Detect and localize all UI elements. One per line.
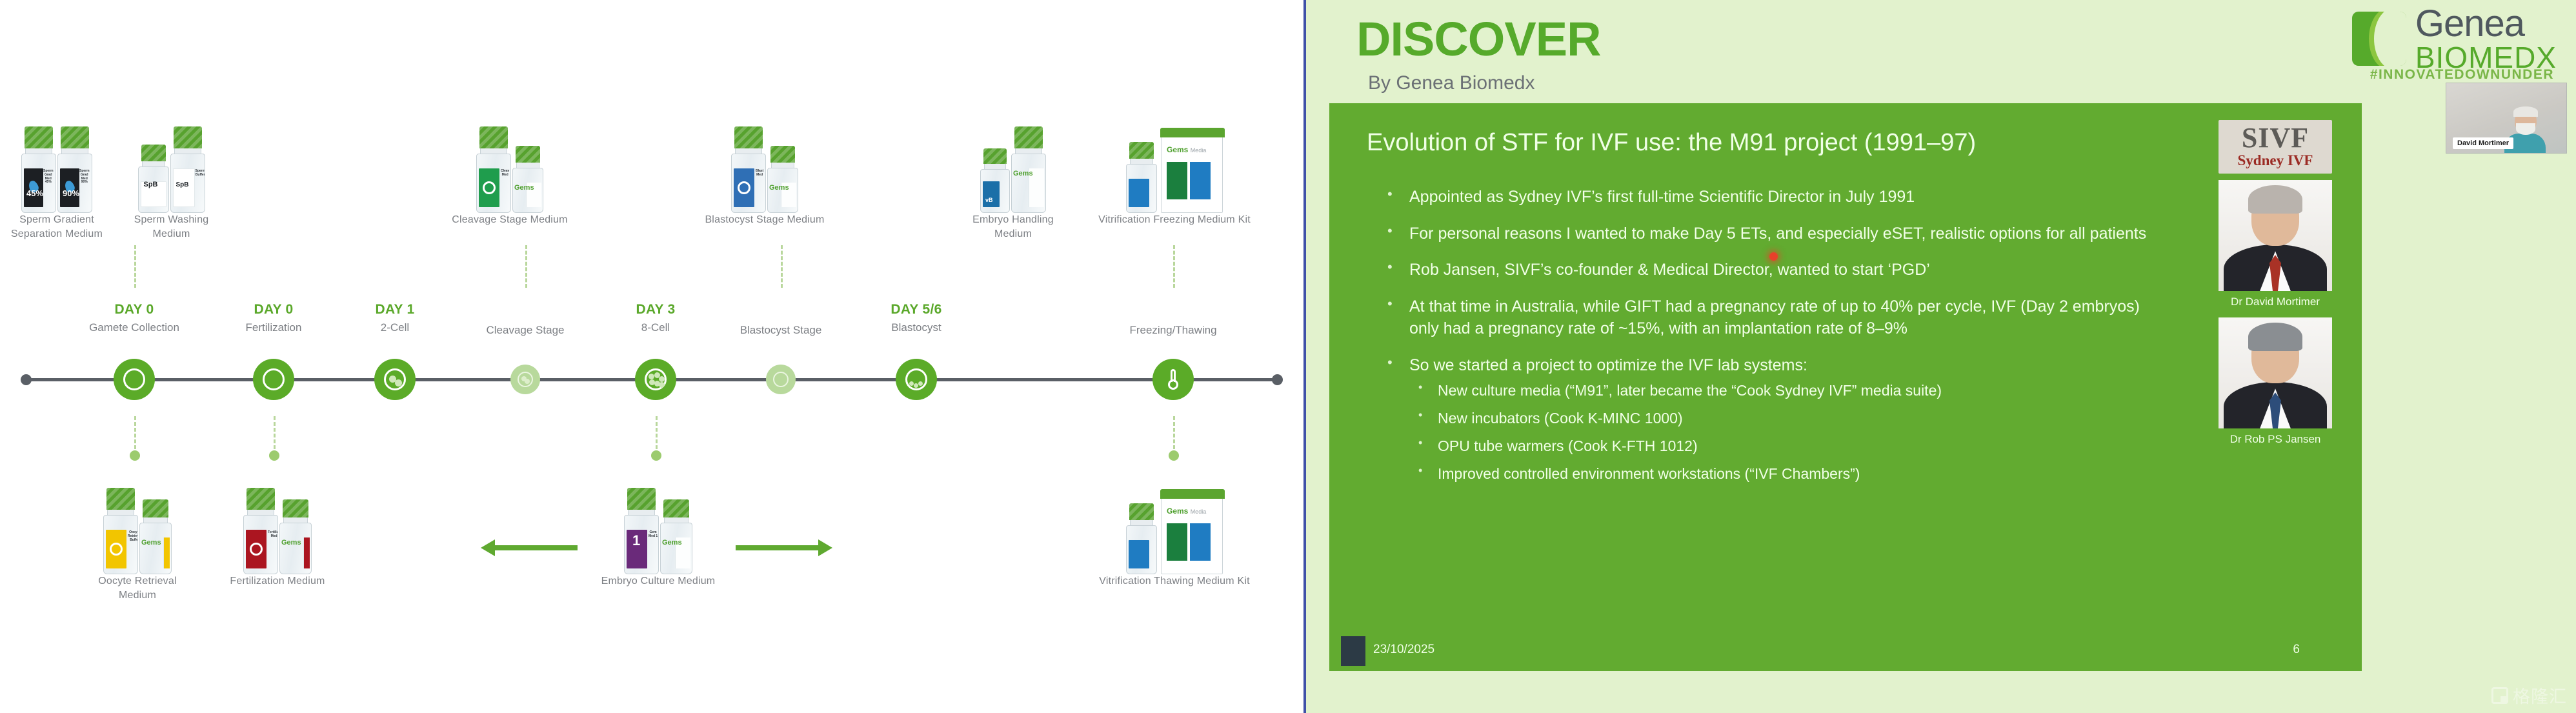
vial-neck [107, 510, 134, 515]
vial-value: 90% [63, 188, 79, 198]
discover-title: DISCOVER [1356, 12, 1601, 66]
media-word: Media [1191, 508, 1207, 515]
connector-line [1173, 416, 1175, 455]
vial-neck [1130, 159, 1153, 164]
vial-label: 90% [60, 168, 79, 207]
bullet-item: For personal reasons I wanted to make Da… [1382, 223, 2150, 245]
vial: 45% SpermGradMed45% [21, 126, 56, 213]
vial-neck [61, 148, 88, 154]
product-caption: Sperm Washing Medium [115, 213, 228, 241]
cleavage-icon [518, 372, 533, 387]
vial-neck [1130, 520, 1153, 525]
gems-brand-text: Gems Media [1167, 507, 1206, 516]
connector-dot [269, 450, 279, 461]
sperm-oocyte-icon [263, 368, 285, 390]
vial-label: 45% [24, 168, 43, 207]
slide-body: Evolution of STF for IVF use: the M91 pr… [1329, 103, 2362, 671]
vial-cap [663, 499, 689, 517]
timeline-stage: Freezing/Thawing [1129, 324, 1216, 337]
connector-line [1173, 245, 1175, 288]
product-embryo-handling-medium: vB Gems Embryo Handling Medium [955, 126, 1071, 241]
vial-neck [984, 164, 1006, 169]
vial-label [163, 537, 170, 568]
timeline-label-cleavage-stage: Cleavage Stage [487, 320, 565, 337]
vial: Gems [767, 146, 798, 213]
vial-label-text: BlastMed [756, 170, 763, 177]
kit-box: Gems Media [1161, 497, 1223, 574]
vial-value: 1 [632, 532, 640, 549]
product-cleavage-stage-medium: CleavMed Gems Cleavage Stage Medium [452, 116, 568, 227]
sub-bullet-item: Improved controlled environment workstat… [1412, 465, 2150, 484]
screenshot-root: 45% SpermGradMed45% 90% SpermGradMed90% [0, 0, 2576, 713]
product-vitrification-freezing-medium-kit: Gems Media Vitrification Freezing Medium… [1091, 110, 1258, 227]
timeline-label-blastocyst-stage: Blastocyst Stage [740, 320, 822, 337]
vial-label-text: OocyteRetrievalBuffer [128, 531, 138, 542]
product-caption: Embryo Culture Medium [600, 574, 716, 588]
vial-body: CleavMed [476, 154, 511, 213]
vial [1126, 503, 1157, 574]
vial-cap [1014, 126, 1043, 148]
vial-cap [770, 146, 795, 163]
product-caption: Oocyte Retrieval Medium [83, 574, 192, 602]
gems-brand-text: Gems Media [1167, 145, 1206, 154]
vial-body: Gems [139, 523, 172, 574]
vial-cap [25, 126, 53, 148]
vial-body: 1 GemMed 1 [624, 515, 659, 574]
portrait-rob-jansen [2219, 317, 2332, 428]
bullet-item: Appointed as Sydney IVF’s first full-tim… [1382, 186, 2150, 208]
oocyte-icon [123, 368, 145, 390]
bottle-pair: CleavMed Gems [452, 116, 568, 213]
timeline-stage: Blastocyst Stage [740, 324, 822, 337]
vial-cap [1129, 142, 1154, 159]
webcam-thumbnail[interactable]: David Mortimer [2446, 83, 2567, 154]
vial-body [1126, 164, 1157, 213]
sivf-logo: SIVF Sydney IVF [2219, 120, 2332, 174]
vial: 90% SpermGradMed90% [57, 126, 92, 213]
bullet-item: So we started a project to optimize the … [1382, 354, 2150, 377]
vial-neck [247, 510, 274, 515]
vial-body: SpB [138, 166, 169, 213]
webcam-name-tag: David Mortimer [2453, 137, 2513, 149]
vial-neck [1015, 148, 1042, 154]
vial-value: 45% [26, 188, 43, 198]
watermark-text: 格隆汇 [2513, 683, 2567, 708]
vial-cap [141, 145, 166, 161]
vial-label [734, 168, 754, 207]
vial-label: SpB [173, 168, 195, 207]
timeline-stage: 2-Cell [375, 321, 414, 334]
media-word: Media [1191, 147, 1207, 154]
slide-page-number: 6 [2293, 643, 2300, 657]
gems-brand-text: Gems [141, 539, 161, 547]
vial-body: Gems [767, 168, 798, 213]
kit-swatch-green [1167, 523, 1187, 561]
gems-brand-text: Gems [514, 184, 534, 192]
brand-name: Genea [2415, 5, 2557, 43]
kit-swatch-blue [1190, 523, 1211, 561]
brand-wordmark: Genea BIOMEDX [2415, 5, 2557, 72]
product-caption: Vitrification Freezing Medium Kit [1091, 213, 1258, 227]
vial-neck [664, 517, 689, 523]
timeline-node-blastocyst[interactable] [896, 359, 937, 400]
vial-neck [25, 148, 52, 154]
bottle-pair: 45% SpermGradMed45% 90% SpermGradMed90% [5, 110, 108, 213]
timeline-node-cleavage-stage[interactable] [510, 365, 540, 394]
vial-cap [61, 126, 89, 148]
speaker-beard [2516, 123, 2535, 135]
arrow-row-left [481, 539, 578, 559]
product-caption: Embryo Handling Medium [955, 213, 1071, 241]
connector-line [274, 416, 276, 455]
vial-label [246, 530, 267, 568]
timeline-node-2-cell[interactable] [374, 359, 416, 400]
vial-neck [480, 148, 507, 154]
connector-line [134, 245, 136, 288]
vial-label: 1 [627, 530, 647, 568]
timeline-day: DAY 0 [246, 302, 302, 317]
kit-box: Gems Media [1161, 136, 1223, 213]
discover-subtitle: By Genea Biomedx [1368, 72, 1535, 94]
slide-corner-accent [1341, 636, 1365, 666]
vial-label [1129, 179, 1149, 207]
eight-cell-icon [645, 368, 667, 390]
timeline-label-2-cell: DAY 1 2-Cell [375, 302, 414, 334]
sub-bullet-item: New incubators (Cook K-MINC 1000) [1412, 409, 2150, 428]
timeline-label-fertilization: DAY 0 Fertilization [246, 302, 302, 334]
vial-body: BlastMed [731, 154, 766, 213]
product-caption: Blastocyst Stage Medium [703, 213, 826, 227]
genea-biomedx-logo: Genea BIOMEDX [2352, 5, 2557, 72]
connector-line [525, 245, 527, 288]
vial-neck [771, 163, 794, 168]
vial-label [479, 168, 499, 207]
vial-cap [516, 146, 540, 163]
vial: Gems [279, 499, 312, 574]
vial-label-text: SpermGradMed90% [79, 170, 90, 185]
portrait-caption: Dr David Mortimer [2219, 296, 2332, 308]
vial-value: SpB [144, 181, 158, 188]
oocyte-icon [110, 543, 123, 556]
slide-title: Evolution of STF for IVF use: the M91 pr… [1367, 129, 1976, 157]
gems-brand-text: Gems [769, 184, 789, 192]
ivf-timeline [0, 361, 1303, 400]
sub-bullet-item: OPU tube warmers (Cook K-FTH 1012) [1412, 437, 2150, 456]
vial-cap [479, 126, 508, 148]
vial-label [106, 530, 126, 568]
bullet-item: Rob Jansen, SIVF’s co-founder & Medical … [1382, 259, 2150, 281]
timeline-node-freezing-thawing[interactable] [1152, 359, 1194, 400]
timeline-day: DAY 1 [375, 302, 414, 317]
vial-neck [516, 163, 539, 168]
blastocyst-stage-icon [773, 372, 789, 387]
gems-brand-text: Gems [281, 539, 301, 547]
connector-line [134, 416, 136, 455]
arrow-left-icon [481, 539, 578, 556]
vial-body: Gems [279, 523, 312, 574]
product-blastocyst-stage-medium: BlastMed Gems Blastocyst Stage Medium [703, 116, 826, 227]
vial-neck [142, 161, 165, 166]
timeline-label-8-cell: DAY 3 8-Cell [636, 302, 675, 334]
timeline-day: DAY 5/6 [891, 302, 941, 317]
timeline-stage: 8-Cell [636, 321, 675, 334]
timeline-start-cap [21, 374, 32, 385]
bottle-pair: FertilizationMedium Gems [223, 471, 332, 574]
vial-body: Gems [660, 523, 692, 574]
thermometer-icon [1168, 369, 1178, 390]
timeline-label-blastocyst: DAY 5/6 Blastocyst [891, 302, 941, 334]
timeline-day: DAY 0 [89, 302, 179, 317]
bottle-pair: OocyteRetrievalBuffer Gems [83, 471, 192, 574]
sperm-oocyte-icon [250, 543, 263, 556]
vial-cap [627, 488, 656, 510]
vial-label [1129, 540, 1149, 568]
vial-cap [1129, 503, 1154, 520]
vial-label-text: SpermGradMed45% [43, 170, 54, 185]
vial-cap [283, 499, 308, 517]
vial-label-text: GemMed 1 [649, 531, 658, 539]
timeline-node-fertilization[interactable] [253, 359, 294, 400]
vial-cap [174, 126, 202, 148]
gems-brand-text: Gems [1013, 170, 1033, 177]
vial: Gems [660, 499, 692, 574]
blastocyst-icon [738, 181, 750, 194]
vial: SpB SpermBuffer [170, 126, 205, 213]
hashtag-text: #INNOVATEDOWNUNDER [2370, 67, 2554, 83]
slide-date: 23/10/2025 [1373, 643, 1434, 657]
slide-bullet-list: Appointed as Sydney IVF’s first full-tim… [1382, 186, 2150, 492]
timeline-node-8-cell[interactable] [635, 359, 676, 400]
vial: vB [980, 148, 1010, 213]
sivf-logo-sub: Sydney IVF [2219, 152, 2332, 168]
bullet-text: For personal reasons I wanted to make Da… [1409, 225, 2146, 243]
vial [1126, 142, 1157, 213]
vial-body: OocyteRetrievalBuffer [103, 515, 138, 574]
vial-neck [283, 517, 308, 523]
slide-photo-column: SIVF Sydney IVF Dr David Mortimer Dr Rob… [2219, 120, 2332, 446]
kit-swatch-blue [1190, 162, 1211, 199]
vial: OocyteRetrievalBuffer [103, 488, 138, 574]
timeline-node-blastocyst-stage[interactable] [766, 365, 796, 394]
timeline-end-cap [1272, 374, 1283, 385]
vial-cap [983, 148, 1007, 164]
speaker-hair [2513, 106, 2538, 117]
timeline-stage: Cleavage Stage [487, 324, 565, 337]
product-sperm-gradient-separation-medium: 45% SpermGradMed45% 90% SpermGradMed90% [5, 110, 108, 241]
vial-cap [143, 499, 168, 517]
vial-value: SpB [176, 181, 189, 188]
vial-neck [735, 148, 762, 154]
timeline-day: DAY 3 [636, 302, 675, 317]
vial-body: FertilizationMedium [243, 515, 278, 574]
vial-body: Gems [512, 168, 543, 213]
timeline-label-gamete-collection: DAY 0 Gamete Collection [89, 302, 179, 334]
kit-box-flap [1160, 128, 1225, 137]
vial-value: vB [985, 197, 993, 203]
bottle-pair: SpB SpB SpermBuffer [115, 116, 228, 213]
vial: SpB [138, 145, 169, 213]
kit-swatch-green [1167, 162, 1187, 199]
vial-body [1126, 525, 1157, 574]
vial-label-text: SpermBuffer [196, 170, 205, 177]
vial-body: SpB SpermBuffer [170, 154, 205, 213]
timeline-stage: Blastocyst [891, 321, 941, 334]
vial-body: Gems [1011, 154, 1046, 213]
vial-cap [734, 126, 763, 148]
vial-body: 90% SpermGradMed90% [57, 154, 92, 213]
connector-dot [130, 450, 140, 461]
vial-label: vB [983, 181, 1000, 207]
two-cell-icon [384, 368, 406, 390]
webinar-slide-panel: DISCOVER By Genea Biomedx Genea BIOMEDX … [1303, 0, 2576, 713]
kit-group: Gems Media [1091, 471, 1258, 574]
slide-sub-bullet-list: New culture media (“M91”, later became t… [1412, 381, 2150, 484]
connector-line [656, 416, 658, 455]
portrait-david-mortimer [2219, 180, 2332, 291]
arrow-row-right [736, 539, 832, 559]
blastocyst-icon [905, 368, 927, 390]
vial: Gems [139, 499, 172, 574]
vial: Gems [1011, 126, 1046, 213]
watermark-logo-icon [2491, 687, 2508, 704]
vial-neck [143, 517, 168, 523]
gems-brand-text: Gems [662, 539, 682, 547]
bottle-pair: BlastMed Gems [703, 116, 826, 213]
vial-label [303, 537, 310, 568]
bottle-pair: 1 GemMed 1 Gems [600, 471, 716, 574]
timeline-label-freezing-thawing: Freezing/Thawing [1129, 320, 1216, 337]
product-sperm-washing-medium: SpB SpB SpermBuffer Sperm Washing Medium [115, 116, 228, 241]
product-caption: Cleavage Stage Medium [452, 213, 568, 227]
product-embryo-culture-medium: 1 GemMed 1 Gems Embryo Culture Medium [600, 471, 716, 588]
bottle-pair: vB Gems [955, 126, 1071, 213]
product-caption: Sperm Gradient Separation Medium [5, 213, 108, 241]
timeline-node-gamete-collection[interactable] [114, 359, 155, 400]
vial-body: 45% SpermGradMed45% [21, 154, 56, 213]
product-oocyte-retrieval-medium: OocyteRetrievalBuffer Gems Oocyte Retrie… [83, 471, 192, 602]
product-caption: Fertilization Medium [223, 574, 332, 588]
ivf-workflow-panel: 45% SpermGradMed45% 90% SpermGradMed90% [0, 0, 1303, 713]
vial-label-text: FertilizationMedium [268, 531, 278, 539]
vial-label: SpB [141, 181, 166, 207]
vial-body: vB [980, 169, 1010, 213]
embryo-icon [483, 181, 496, 194]
timeline-stage: Gamete Collection [89, 321, 179, 334]
vial-neck [628, 510, 655, 515]
sivf-logo-main: SIVF [2219, 124, 2332, 152]
portrait-caption: Dr Rob PS Jansen [2219, 433, 2332, 446]
kit-group: Gems Media [1091, 110, 1258, 213]
watermark: 格隆汇 [2491, 683, 2567, 708]
kit-box-flap [1160, 489, 1225, 499]
timeline-stage: Fertilization [246, 321, 302, 334]
vial: FertilizationMedium [243, 488, 278, 574]
vial: CleavMed [476, 126, 511, 213]
vial-neck [174, 148, 201, 154]
vial-cap [247, 488, 275, 510]
product-caption: Vitrification Thawing Medium Kit [1091, 574, 1258, 588]
connector-dot [651, 450, 661, 461]
vial-label-text: CleavMed [501, 170, 509, 177]
sub-bullet-item: New culture media (“M91”, later became t… [1412, 381, 2150, 401]
genea-leaf-icon [2352, 12, 2406, 66]
vial: Gems [512, 146, 543, 213]
connector-dot [1169, 450, 1179, 461]
vial: BlastMed [731, 126, 766, 213]
product-vitrification-thawing-medium-kit: Gems Media Vitrification Thawing Medium … [1091, 471, 1258, 588]
product-fertilization-medium: FertilizationMedium Gems Fertilization M… [223, 471, 332, 588]
connector-line [781, 245, 783, 288]
vial-cap [106, 488, 135, 510]
vial: 1 GemMed 1 [624, 488, 659, 574]
bullet-item: At that time in Australia, while GIFT ha… [1382, 296, 2150, 340]
arrow-right-icon [736, 539, 832, 556]
